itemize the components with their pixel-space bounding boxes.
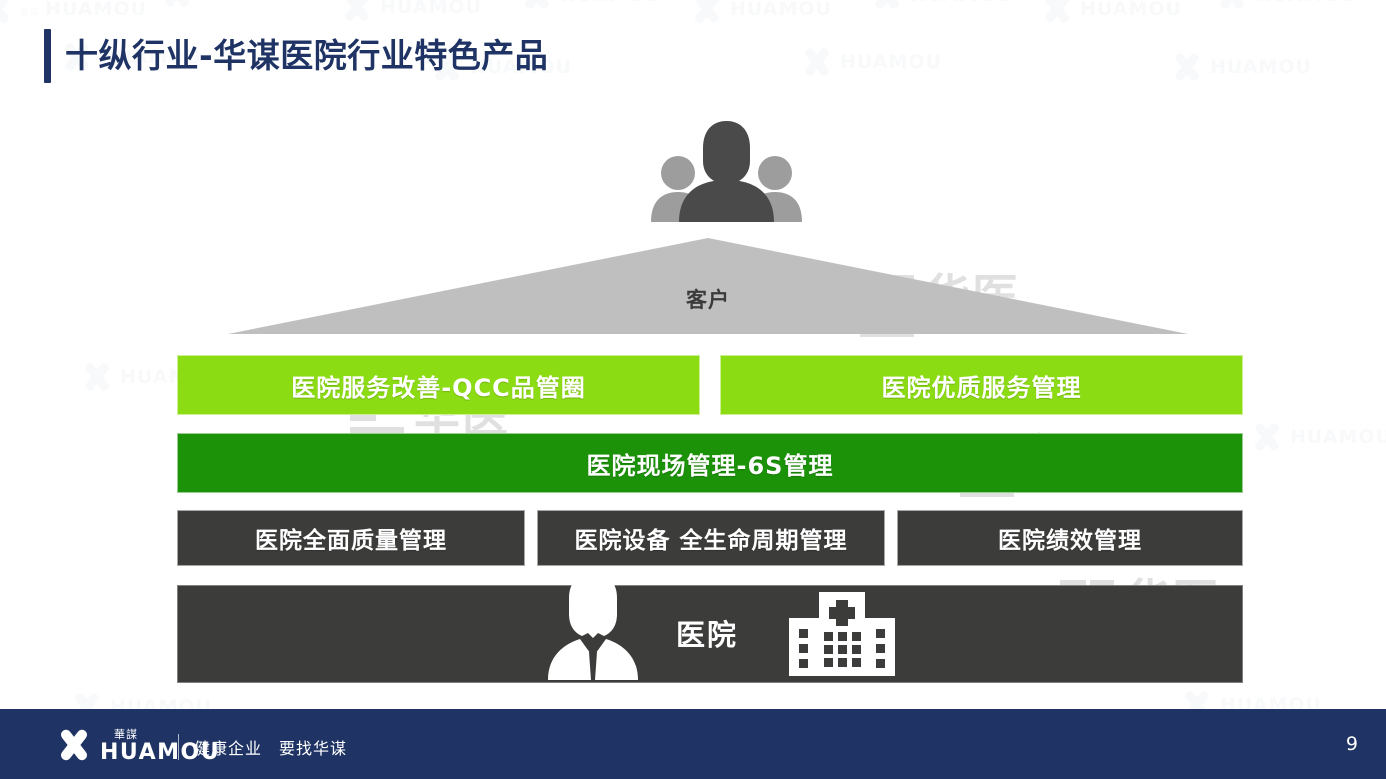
footer-divider <box>178 734 179 760</box>
watermark-en: HUAMOU <box>1210 58 1312 77</box>
watermark-tile: HUAMOU <box>520 0 662 12</box>
triangle-label: 客户 <box>228 284 1188 314</box>
doctor-silhouette-icon <box>538 572 648 680</box>
watermark-en: HUAMOU <box>840 53 942 72</box>
page-title: 十纵行业-华谋医院行业特色产品 <box>44 29 548 83</box>
watermark-en: HUAMOU <box>560 0 662 5</box>
watermark-en: HUAMOU <box>200 0 302 3</box>
slide-canvas: 華謀 HUAMOU HUAMOU HUAMOU HUAMOU HUAMOU HU… <box>0 0 1386 779</box>
watermark-en: HUAMOU <box>380 0 482 17</box>
tier-gray-label-1: 医院全面质量管理 <box>255 521 447 555</box>
watermark-tile: HUAMOU <box>690 0 832 26</box>
watermark-en: HUAMOU <box>730 0 832 19</box>
huamou-mark-icon <box>80 360 114 394</box>
group-of-people-icon <box>645 118 808 222</box>
huamou-mark-icon <box>340 0 374 24</box>
tier-light-green-box-2[interactable]: 医院优质服务管理 <box>720 355 1243 415</box>
tier-dark-green-box[interactable]: 医院现场管理-6S管理 <box>177 433 1243 493</box>
watermark-en: HUAMOU <box>1080 0 1182 19</box>
tier-gray-box-1[interactable]: 医院全面质量管理 <box>177 510 525 566</box>
watermark-cn: 華謀 <box>20 8 40 18</box>
watermark-tile: HUAMOU <box>1170 50 1312 84</box>
watermark-text-group: 華謀 HUAMOU <box>20 0 147 19</box>
watermark-tile: HUAMOU <box>1040 0 1182 26</box>
watermark-tile: HUAMOU <box>800 45 942 79</box>
watermark-tile: HUAMOU <box>340 0 482 24</box>
watermark-tile: 華謀 HUAMOU <box>0 0 147 26</box>
page-number: 9 <box>1346 733 1358 755</box>
huamou-mark-icon <box>690 0 724 26</box>
watermark-en: HUAMOU <box>910 0 1012 5</box>
tier-light-green-label-2: 医院优质服务管理 <box>882 368 1082 403</box>
huamou-logo-icon <box>55 726 93 764</box>
watermark-en: HUAMOU <box>1290 428 1386 447</box>
huamou-mark-icon <box>0 0 14 26</box>
base-label: 医院 <box>676 612 738 654</box>
tier-gray-label-2: 医院设备 全生命周期管理 <box>574 521 847 555</box>
watermark-tile: HUAMOU <box>870 0 1012 12</box>
tier-gray-box-3[interactable]: 医院绩效管理 <box>897 510 1243 566</box>
title-text: 十纵行业-华谋医院行业特色产品 <box>65 29 548 83</box>
huamou-mark-icon <box>1215 0 1249 12</box>
huamou-mark-icon <box>870 0 904 12</box>
watermark-en: HUAMOU <box>1255 0 1357 5</box>
tier-gray-label-3: 医院绩效管理 <box>998 521 1142 555</box>
footer-slogan: 健康企业 要找华谋 <box>194 735 347 759</box>
hospital-building-icon <box>789 592 895 676</box>
huamou-mark-icon <box>160 0 194 10</box>
watermark-tile: HUAMOU <box>160 0 302 10</box>
tier-light-green-box-1[interactable]: 医院服务改善-QCC品管圈 <box>177 355 700 415</box>
tier-dark-green-label: 医院现场管理-6S管理 <box>587 446 834 481</box>
tier-light-green-label-1: 医院服务改善-QCC品管圈 <box>291 368 586 403</box>
watermark-en: HUAMOU <box>45 0 147 20</box>
footer-bar: 華謀 HUAMOU 健康企业 要找华谋 9 <box>0 709 1386 779</box>
huamou-mark-icon <box>1250 420 1284 454</box>
customer-triangle: 客户 <box>228 238 1188 334</box>
huamou-mark-icon <box>1170 50 1204 84</box>
watermark-tile: HUAMOU <box>1215 0 1357 12</box>
huamou-mark-icon <box>800 45 834 79</box>
huamou-mark-icon <box>1040 0 1074 26</box>
title-accent-bar <box>44 29 51 83</box>
huamou-mark-icon <box>520 0 554 12</box>
watermark-tile: HUAMOU <box>1250 420 1386 454</box>
tier-gray-box-2[interactable]: 医院设备 全生命周期管理 <box>537 510 885 566</box>
